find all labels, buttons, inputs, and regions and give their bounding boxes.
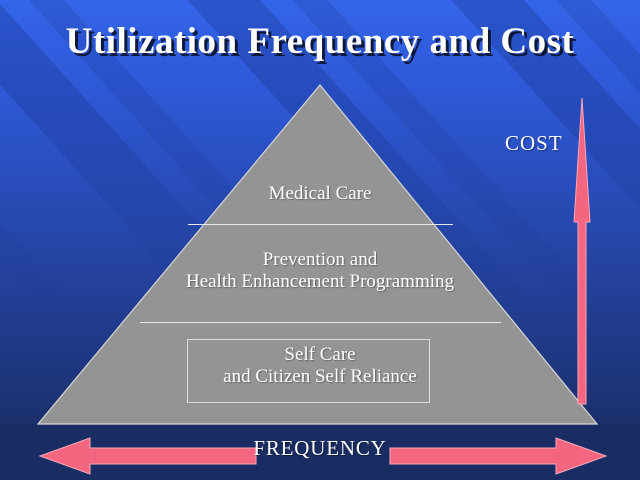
pyramid-divider-2 — [140, 322, 501, 323]
slide-canvas: Utilization Frequency and Cost Medical C… — [0, 0, 640, 480]
cost-axis-label: COST — [505, 131, 563, 156]
pyramid-tier-medical-care: Medical Care — [0, 183, 640, 205]
frequency-right-arrow-icon — [388, 436, 608, 476]
tier3-line1: Self Care — [0, 344, 640, 366]
tier1-line1: Medical Care — [269, 183, 372, 204]
pyramid-divider-1 — [188, 224, 453, 225]
cost-up-arrow-icon — [565, 96, 599, 406]
background-diagonal-stripes — [0, 0, 640, 480]
pyramid-tier-prevention: Prevention and Health Enhancement Progra… — [0, 249, 640, 294]
pyramid-tier-self-care: Self Care and Citizen Self Reliance — [0, 344, 640, 389]
tier2-line1: Prevention and — [0, 249, 640, 271]
slide-title: Utilization Frequency and Cost — [0, 20, 640, 63]
tier2-line2: Health Enhancement Programming — [0, 271, 640, 293]
tier3-line2: and Citizen Self Reliance — [0, 366, 640, 388]
